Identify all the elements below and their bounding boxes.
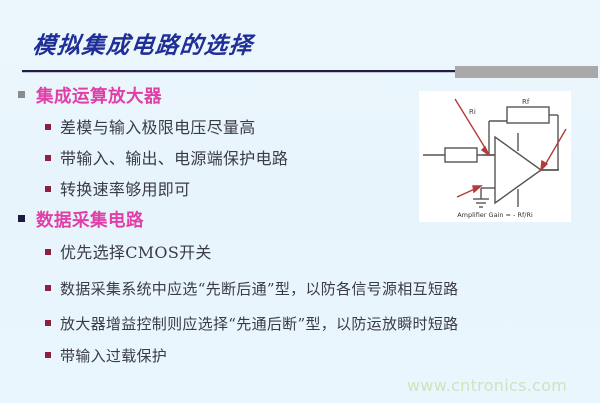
bullet-item-level2: 优先选择CMOS开关 xyxy=(45,239,212,263)
bullet-text: 数据采集系统中应选“先断后通”型，以防各信号源相互短路 xyxy=(60,278,458,299)
bullet-text: 数据采集电路 xyxy=(36,207,144,232)
bullet-item-level1: 集成运算放大器 xyxy=(18,83,162,108)
circuit-caption: Amplifier Gain = - Rf/Ri xyxy=(457,211,533,219)
square-bullet-icon xyxy=(45,249,51,255)
bullet-item-level2: 转换速率够用即可 xyxy=(45,176,190,200)
bullet-item-level2: 数据采集系统中应选“先断后通”型，以防各信号源相互短路 xyxy=(45,278,458,299)
bullet-text: 集成运算放大器 xyxy=(36,83,162,108)
page-title: 模拟集成电路的选择 xyxy=(31,26,255,60)
bullet-item-level2: 放大器增益控制则应选择“先通后断”型，以防运放瞬时短路 xyxy=(45,313,458,334)
gray-accent-band xyxy=(455,66,598,78)
square-bullet-icon xyxy=(45,352,51,358)
bullet-text: 带输入、输出、电源端保护电路 xyxy=(60,145,288,169)
bullet-text: 放大器增益控制则应选择“先通后断”型，以防运放瞬时短路 xyxy=(60,313,458,334)
square-bullet-icon xyxy=(45,186,51,192)
bullet-item-level2: 带输入过载保护 xyxy=(45,345,167,366)
square-bullet-icon xyxy=(18,215,25,222)
bullet-text: 差模与输入极限电压尽量高 xyxy=(60,114,256,138)
opamp-circuit-svg: Ri Rf Amplifier Gain = - Rf/Ri xyxy=(419,91,571,222)
square-bullet-icon xyxy=(45,285,51,291)
square-bullet-icon xyxy=(18,91,25,98)
site-watermark: www.cntronics.com xyxy=(407,376,567,395)
feedback-resistor-label: Rf xyxy=(522,98,530,106)
bullet-item-level1: 数据采集电路 xyxy=(18,207,144,232)
slide-canvas: 模拟集成电路的选择 集成运算放大器 差模与输入极限电压尽量高 带输入、输出、电源… xyxy=(0,0,600,403)
bullet-text: 优先选择CMOS开关 xyxy=(60,239,212,263)
square-bullet-icon xyxy=(45,124,51,130)
square-bullet-icon xyxy=(45,320,51,326)
square-bullet-icon xyxy=(45,155,51,161)
bullet-text: 带输入过载保护 xyxy=(60,345,167,366)
opamp-circuit-figure: Ri Rf Amplifier Gain = - Rf/Ri xyxy=(419,91,571,222)
bullet-item-level2: 差模与输入极限电压尽量高 xyxy=(45,114,256,138)
input-resistor-label: Ri xyxy=(469,108,476,116)
bullet-text: 转换速率够用即可 xyxy=(60,176,190,200)
bullet-item-level2: 带输入、输出、电源端保护电路 xyxy=(45,145,288,169)
